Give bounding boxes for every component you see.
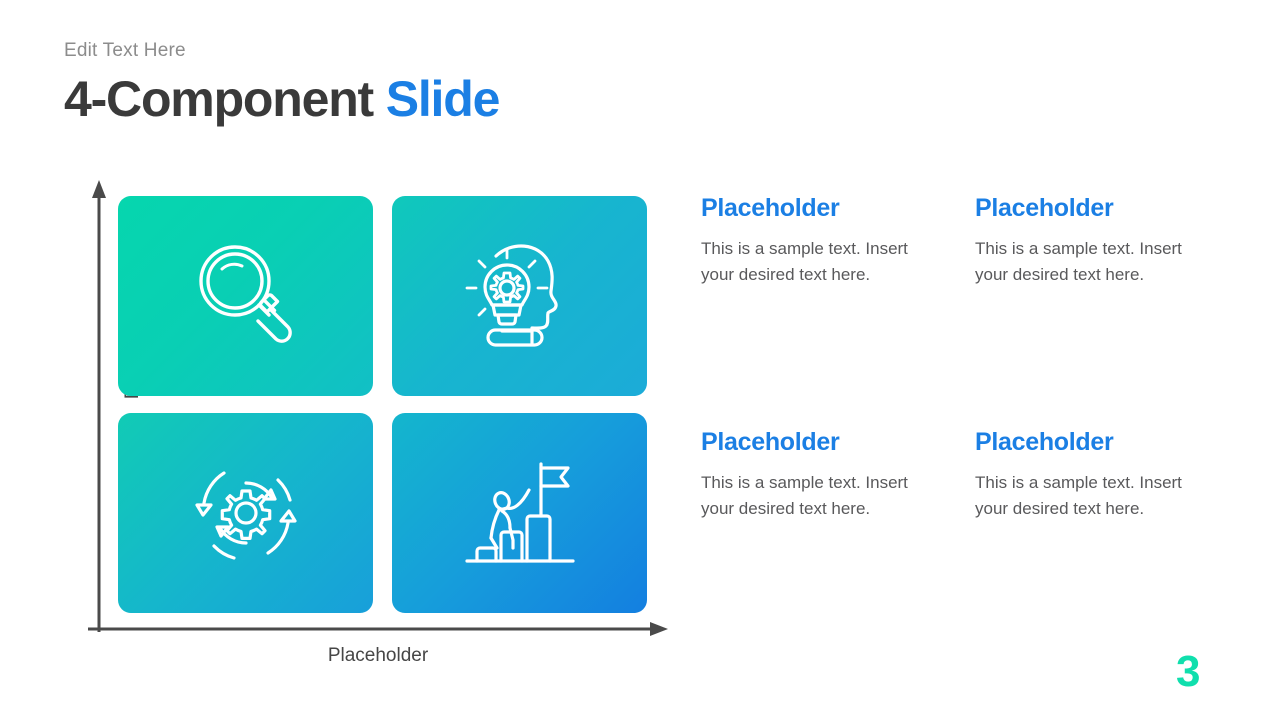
placeholder-block-2: Placeholder This is a sample text. Inser…	[975, 193, 1210, 288]
flag-steps-icon	[455, 448, 585, 578]
placeholder-block-3: Placeholder This is a sample text. Inser…	[701, 427, 936, 522]
tile-top-right[interactable]	[392, 196, 647, 396]
tile-bottom-left[interactable]	[118, 413, 373, 613]
tile-top-left[interactable]	[118, 196, 373, 396]
head-lightbulb-icon	[452, 231, 587, 361]
eyebrow-text: Edit Text Here	[64, 40, 499, 63]
slide-header: Edit Text Here 4-Component Slide	[64, 40, 499, 128]
page-number: 3	[1176, 650, 1200, 694]
placeholder-block-4: Placeholder This is a sample text. Inser…	[975, 427, 1210, 522]
y-axis-arrowhead	[92, 180, 106, 198]
placeholder-title-4: Placeholder	[975, 427, 1210, 457]
magnifier-icon	[181, 231, 311, 361]
placeholder-body-1: This is a sample text. Insert your desir…	[701, 236, 923, 288]
tile-bottom-right[interactable]	[392, 413, 647, 613]
placeholder-title-1: Placeholder	[701, 193, 936, 223]
placeholder-body-3: This is a sample text. Insert your desir…	[701, 470, 923, 522]
placeholder-block-1: Placeholder This is a sample text. Inser…	[701, 193, 936, 288]
x-axis-arrowhead	[650, 622, 668, 636]
component-tile-grid	[118, 196, 647, 613]
page-title-accent: Slide	[386, 71, 499, 127]
placeholder-title-3: Placeholder	[701, 427, 936, 457]
placeholder-body-4: This is a sample text. Insert your desir…	[975, 470, 1197, 522]
gear-cycle-icon	[180, 447, 312, 579]
placeholder-title-2: Placeholder	[975, 193, 1210, 223]
page-title-main: 4-Component	[64, 71, 373, 127]
page-title: 4-Component Slide	[64, 71, 499, 129]
x-axis-label: Placeholder	[180, 645, 576, 667]
placeholder-body-2: This is a sample text. Insert your desir…	[975, 236, 1197, 288]
